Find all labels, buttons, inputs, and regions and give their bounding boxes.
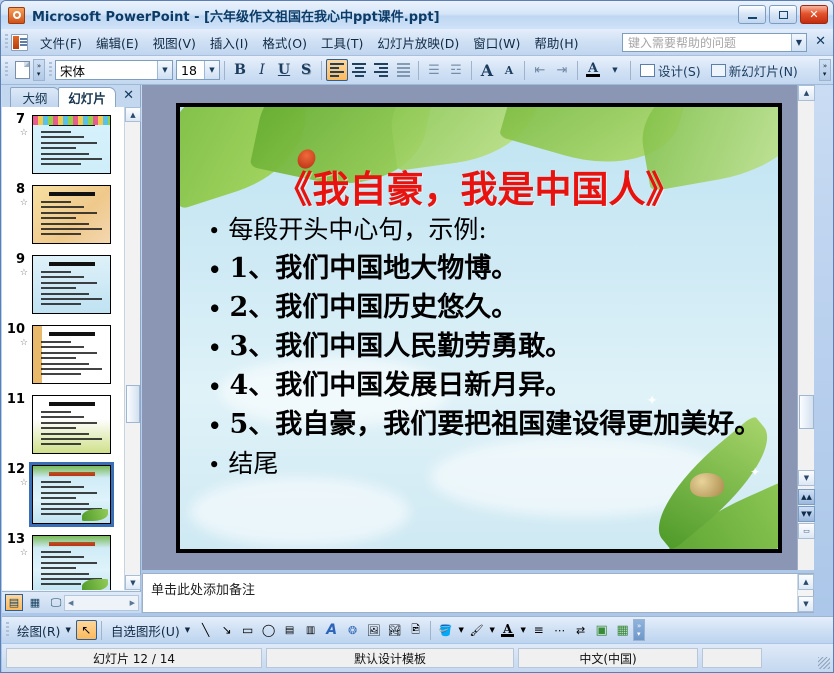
status-extra [702,648,762,668]
animation-star-icon: ☆ [4,548,30,558]
insert-clipart-icon[interactable]: 🖼 [363,620,384,640]
slide-bullet[interactable]: •1、我们中国地大物博。 [208,250,778,289]
new-slide-label: 新幻灯片(N) [729,61,798,80]
scroll-down-button[interactable]: ▼ [798,470,815,486]
new-document-icon[interactable] [11,59,33,81]
next-slide-button[interactable]: ▼▼ [798,506,815,522]
design-button[interactable]: 设计(S) [635,59,706,81]
arrow-style-icon[interactable]: ⇄ [570,620,591,640]
slide-number: 7 [4,113,28,127]
text-box-icon[interactable]: ▤ [279,620,300,640]
slide-bullet[interactable]: •每段开头中心句，示例: [208,211,778,250]
slide-body-placeholder[interactable]: •每段开头中心句，示例:•1、我们中国地大物博。•2、我们中国历史悠久。•3、我… [208,211,778,484]
bullet-dot-icon: • [208,446,228,484]
3d-style-icon[interactable]: ▦ [612,620,633,640]
panel-tabs: 大纲 幻灯片 ✕ [2,85,140,107]
notes-scrollbar[interactable]: ▲ ▼ [797,574,813,612]
slide-bullet-text: 2、我们中国历史悠久。 [229,289,518,327]
animation-star-icon: ☆ [4,478,30,488]
thumbnail-scrollbar[interactable]: ▲ ▼ [124,107,140,590]
align-right-button[interactable] [370,59,392,81]
slide-thumbnail-item[interactable]: 13☆ [2,527,125,590]
horizontal-scrollbar[interactable]: ◀▶ [64,595,139,611]
draw-menu-button[interactable]: 绘图(R) [12,619,65,642]
text-shadow-button[interactable]: S [295,59,317,81]
slide-bullet-text: 每段开头中心句，示例: [228,211,486,249]
slide-thumbnail[interactable] [32,185,111,244]
separator [471,61,472,80]
slide-thumbnail-item[interactable]: 10☆ [2,317,125,387]
insert-chart-icon[interactable]: ▥ [300,620,321,640]
slide-number: 8 [4,183,28,197]
line-style-icon[interactable]: ≡ [528,620,549,640]
slide-thumbnail[interactable] [32,255,111,314]
slide-workspace: ✦ ✦ ✦ 《我自豪，我是中国人》 •每段开头中心句，示例:•1、我们中国地大物… [142,85,814,570]
bullet-dot-icon: • [208,329,229,367]
status-language: 中文(中国) [518,648,698,668]
slide-thumbnail[interactable] [32,535,111,590]
menu-item-help[interactable]: 帮助(H) [527,30,585,55]
font-color-dropdown[interactable]: ▼ [604,59,626,81]
animation-star-icon: ☆ [4,128,30,138]
shadow-style-icon[interactable]: ▣ [591,620,612,640]
select-objects-icon[interactable]: ↖ [76,620,97,640]
slide-vertical-scrollbar[interactable]: ▲ ▼ ▲▲ ▼▼ ▭ [797,85,814,570]
tab-outline[interactable]: 大纲 [10,87,60,107]
slide-number: 10 [4,323,28,337]
slide-thumbnail-item[interactable]: 7☆ [2,107,125,177]
slide-bullet-text: 1、我们中国地大物博。 [229,250,518,288]
scroll-up-button[interactable]: ▲ [125,107,141,122]
close-document-button[interactable]: ✕ [815,34,826,49]
formatting-toolbar: »▾ 宋体 ▼ 18 ▼ B I U S ☰ ☲ A A [1,56,833,85]
slide-show-from-current-button[interactable]: ▭ [798,523,815,539]
increase-indent-button[interactable]: ⇥ [551,59,573,81]
separator [630,61,631,80]
design-label: 设计(S) [658,61,701,80]
document-icon [11,34,28,51]
previous-slide-button[interactable]: ▲▲ [798,489,815,505]
slide-thumbnail-list[interactable]: 7☆8☆9☆10☆1112☆13☆ [2,107,125,590]
chevron-down-icon[interactable]: ▼ [157,61,172,79]
draw-menu-arrow[interactable]: ▼ [65,624,75,636]
separator [224,61,225,80]
separator [101,621,102,640]
menu-item-slideshow[interactable]: 幻灯片放映(D) [370,30,466,55]
new-slide-button[interactable]: 新幻灯片(N) [706,59,803,81]
scroll-down-button[interactable]: ▼ [125,575,141,590]
separator [524,61,525,80]
scroll-up-button[interactable]: ▲ [798,85,815,101]
bullet-dot-icon: • [208,212,228,250]
slide-bullet[interactable]: •3、我们中国人民勤劳勇敢。 [208,328,778,367]
slide-navigation-panel: 大纲 幻灯片 ✕ 7☆8☆9☆10☆1112☆13☆ ▲ ▼ ▤ ▦ 🖵 ◀▶ [2,85,141,613]
oval-icon[interactable]: ◯ [258,620,279,640]
menu-item-insert[interactable]: 插入(I) [203,30,255,55]
scroll-down-button[interactable]: ▼ [798,596,814,612]
insert-picture-icon[interactable]: 🏞 [384,620,405,640]
design-icon [640,64,655,77]
help-search-input[interactable]: 键入需要帮助的问题 ▼ [622,33,807,52]
chevron-down-icon[interactable]: ▼ [204,61,219,79]
window-controls: ✕ [738,5,828,24]
powerpoint-app-icon [8,7,25,24]
slide-title[interactable]: 《我自豪，我是中国人》 [180,159,778,213]
view-buttons-group: ▤ ▦ 🖵 ◀▶ [2,591,141,613]
diagram-icon[interactable]: ❂ [342,620,363,640]
bullet-dot-icon: • [208,368,229,406]
underline-button[interactable]: U [273,59,295,81]
status-slide-counter: 幻灯片 12 / 14 [6,648,262,668]
window-title: Microsoft PowerPoint - [六年级作文祖国在我心中ppt课件… [32,6,440,25]
font-size-value: 18 [177,63,197,78]
line-color-icon[interactable]: 🖌 [466,620,487,640]
slide-thumbnail-selected[interactable] [32,465,111,524]
fill-color-arrow[interactable]: ▼ [456,620,466,640]
font-color-arrow[interactable]: ▼ [518,620,528,640]
bullet-dot-icon: • [208,251,229,289]
slide-number: 12 [4,463,28,477]
notes-pane[interactable]: 单击此处添加备注 ▲ ▼ [142,573,814,613]
slide-bullet-text: 4、我们中国发展日新月异。 [229,367,572,405]
slide-number: 9 [4,253,28,267]
fill-color-icon[interactable]: 🪣 [435,620,456,640]
notes-placeholder: 单击此处添加备注 [143,574,813,598]
font-color-icon[interactable]: A [497,620,518,640]
decrease-indent-button[interactable]: ⇤ [529,59,551,81]
new-slide-icon [711,64,726,77]
align-left-button[interactable] [326,59,348,81]
menu-item-file[interactable]: 文件(F) [33,30,89,55]
help-search-placeholder: 键入需要帮助的问题 [623,34,736,51]
animation-star-icon: ☆ [4,338,30,348]
slide-bullet-text: 5、我自豪，我们要把祖国建设得更加美好。 [229,406,761,444]
dash-style-icon[interactable]: ⋯ [549,620,570,640]
slide-bullet-text: 3、我们中国人民勤劳勇敢。 [229,328,572,366]
chevron-down-icon[interactable]: ▼ [791,34,806,51]
menu-grip[interactable] [5,34,8,50]
numbered-list-button[interactable]: ☰ [423,59,445,81]
status-bar: 幻灯片 12 / 14 默认设计模板 中文(中国) [2,644,833,672]
tab-slides[interactable]: 幻灯片 [58,87,116,107]
slide-bullet[interactable]: •2、我们中国历史悠久。 [208,289,778,328]
animation-star-icon: ☆ [4,268,30,278]
line-icon[interactable]: ╲ [195,620,216,640]
slide-sorter-view-icon[interactable]: ▦ [26,594,44,611]
font-size-combo[interactable]: 18 ▼ [176,60,220,80]
toolbar-overflow-2[interactable]: »▾ [819,59,831,81]
slide-number: 11 [4,393,28,407]
powerpoint-window: Microsoft PowerPoint - [六年级作文祖国在我心中ppt课件… [0,0,834,673]
close-panel-button[interactable]: ✕ [123,88,134,103]
resize-grip[interactable] [818,657,830,669]
slide-thumbnail-item[interactable]: 9☆ [2,247,125,317]
separator [577,61,578,80]
menu-item-format[interactable]: 格式(O) [255,30,314,55]
scroll-up-button[interactable]: ▲ [798,574,814,590]
toolbar-overflow-1[interactable]: »▾ [33,59,45,81]
menu-bar: 文件(F) 编辑(E) 视图(V) 插入(I) 格式(O) 工具(T) 幻灯片放… [1,29,833,56]
font-name-combo[interactable]: 宋体 ▼ [55,60,173,80]
status-design-template: 默认设计模板 [266,648,514,668]
restore-button[interactable] [769,5,797,24]
slide-number: 13 [4,533,28,547]
font-name-value: 宋体 [56,61,85,80]
slide-bullet-text: 结尾 [228,445,278,483]
bullet-dot-icon: • [208,407,229,445]
menu-item-edit[interactable]: 编辑(E) [89,30,146,55]
font-color-button[interactable]: A [582,59,604,81]
rectangle-icon[interactable]: ▭ [237,620,258,640]
menu-item-window[interactable]: 窗口(W) [466,30,527,55]
toolbar-grip-1[interactable] [5,62,8,78]
normal-view-icon[interactable]: ▤ [5,594,23,611]
font-color-letter: A [588,63,598,74]
italic-button[interactable]: I [251,59,273,81]
bold-button[interactable]: B [229,59,251,81]
separator [321,61,322,80]
slide-thumbnail-item[interactable]: 12☆ [2,457,125,527]
slide-thumbnail-item[interactable]: 8☆ [2,177,125,247]
slide-bullet[interactable]: •4、我们中国发展日新月异。 [208,367,778,406]
align-center-button[interactable] [348,59,370,81]
toolbar-grip-2[interactable] [49,62,52,78]
close-button[interactable]: ✕ [800,5,828,24]
drawing-toolbar: 绘图(R) ▼ ↖ 自选图形(U) ▼ ╲ ↘ ▭ ◯ ▤ ▥ A ❂ 🖼 🏞 … [2,616,833,643]
slideshow-view-icon[interactable]: 🖵 [47,594,65,611]
title-bar: Microsoft PowerPoint - [六年级作文祖国在我心中ppt课件… [1,1,833,29]
autoshapes-menu-arrow[interactable]: ▼ [185,624,195,636]
decrease-font-size-button[interactable]: A [498,59,520,81]
bulleted-list-button[interactable]: ☲ [445,59,467,81]
line-color-arrow[interactable]: ▼ [487,620,497,640]
separator [430,621,431,640]
slide-bullet[interactable]: •5、我自豪，我们要把祖国建设得更加美好。 [208,406,778,445]
scrollbar-thumb[interactable] [126,385,140,423]
slide-thumbnail[interactable] [32,325,111,384]
scrollbar-thumb[interactable] [799,395,814,429]
menu-item-view[interactable]: 视图(V) [146,30,203,55]
arrow-icon[interactable]: ↘ [216,620,237,640]
insert-image-icon[interactable]: 🖻 [405,620,426,640]
minimize-button[interactable] [738,5,766,24]
bullet-dot-icon: • [208,290,229,328]
line-spacing-button[interactable] [392,59,414,81]
animation-star-icon: ☆ [4,198,30,208]
slide-bullet[interactable]: •结尾 [208,445,778,484]
wordart-icon[interactable]: A [321,620,342,640]
menu-item-tools[interactable]: 工具(T) [314,30,370,55]
drawbar-grip[interactable] [6,622,9,638]
slide-canvas[interactable]: ✦ ✦ ✦ 《我自豪，我是中国人》 •每段开头中心句，示例:•1、我们中国地大物… [176,103,782,553]
drawbar-overflow[interactable]: »▾ [633,619,645,641]
slide-thumbnail[interactable] [32,115,111,174]
autoshapes-menu-button[interactable]: 自选图形(U) [106,619,185,642]
slide-thumbnail[interactable] [32,395,111,454]
separator [418,61,419,80]
slide-thumbnail-item[interactable]: 11 [2,387,125,457]
increase-font-size-button[interactable]: A [476,59,498,81]
